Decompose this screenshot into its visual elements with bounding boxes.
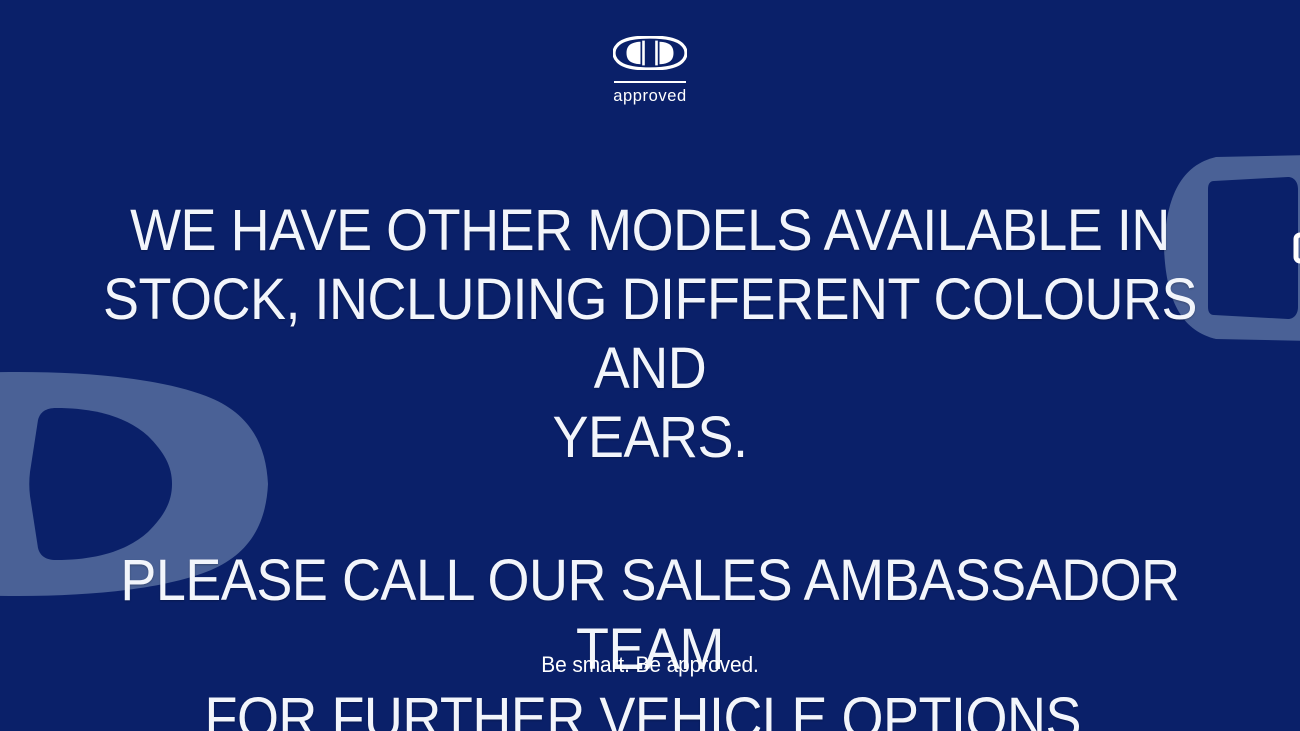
headline-line: STOCK, INCLUDING DIFFERENT COLOURS AND	[83, 265, 1218, 403]
headline-line: FOR FURTHER VEHICLE OPTIONS.	[83, 684, 1218, 731]
message-block: WE HAVE OTHER MODELS AVAILABLE IN STOCK,…	[0, 196, 1300, 731]
headline-line: YEARS.	[83, 403, 1218, 472]
message-paragraph-2: PLEASE CALL OUR SALES AMBASSADOR TEAM FO…	[40, 546, 1260, 731]
tagline: Be smart. Be approved.	[33, 654, 1268, 676]
brand-divider	[614, 81, 686, 83]
car-top-view-icon	[613, 36, 687, 75]
brand-wordmark: approved	[613, 88, 687, 105]
brand-logo: approved	[0, 36, 1300, 105]
message-paragraph-1: WE HAVE OTHER MODELS AVAILABLE IN STOCK,…	[40, 196, 1260, 472]
headline-line: WE HAVE OTHER MODELS AVAILABLE IN	[83, 196, 1218, 265]
